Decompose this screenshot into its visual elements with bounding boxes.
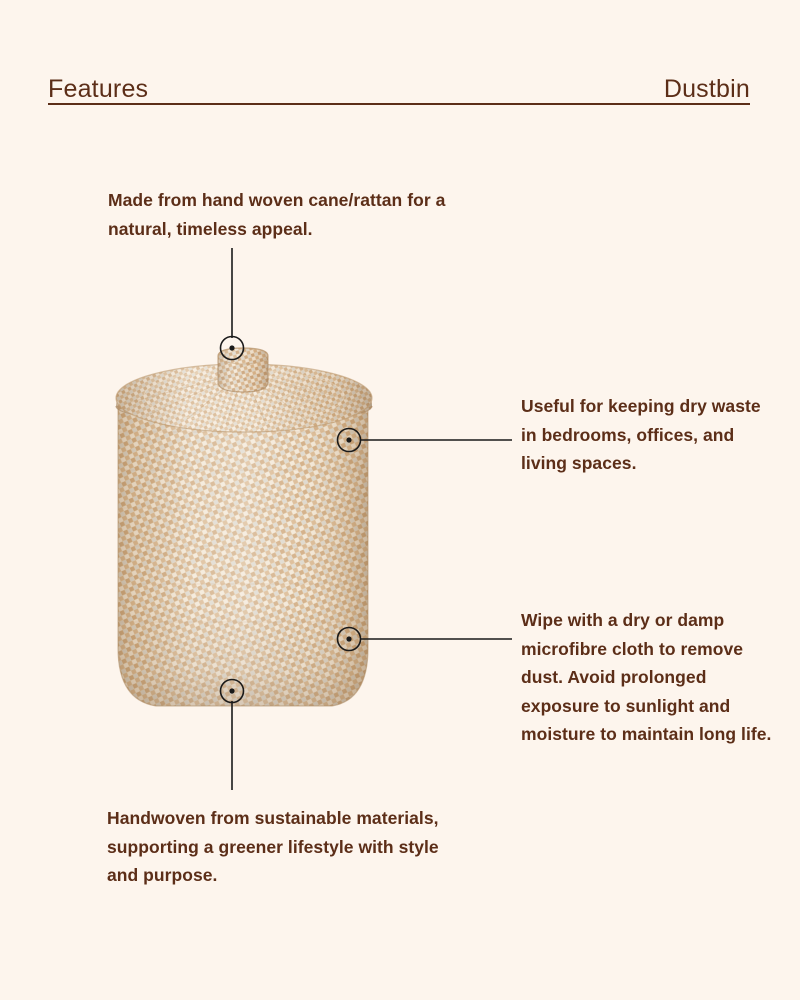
annotation-sustainability: Handwoven from sustainable materials, su…: [107, 804, 467, 890]
feature-sheet-page: Features Dustbin: [0, 0, 800, 1000]
annotation-care: Wipe with a dry or damp microfibre cloth…: [521, 606, 773, 749]
annotation-care-text: Wipe with a dry or damp microfibre cloth…: [521, 606, 773, 749]
annotation-usage: Useful for keeping dry waste in bedrooms…: [521, 392, 769, 478]
annotation-usage-text: Useful for keeping dry waste in bedrooms…: [521, 392, 769, 478]
annotation-material: Made from hand woven cane/rattan for a n…: [108, 186, 508, 243]
annotation-sustainability-text: Handwoven from sustainable materials, su…: [107, 804, 467, 890]
annotation-material-text: Made from hand woven cane/rattan for a n…: [108, 186, 508, 243]
